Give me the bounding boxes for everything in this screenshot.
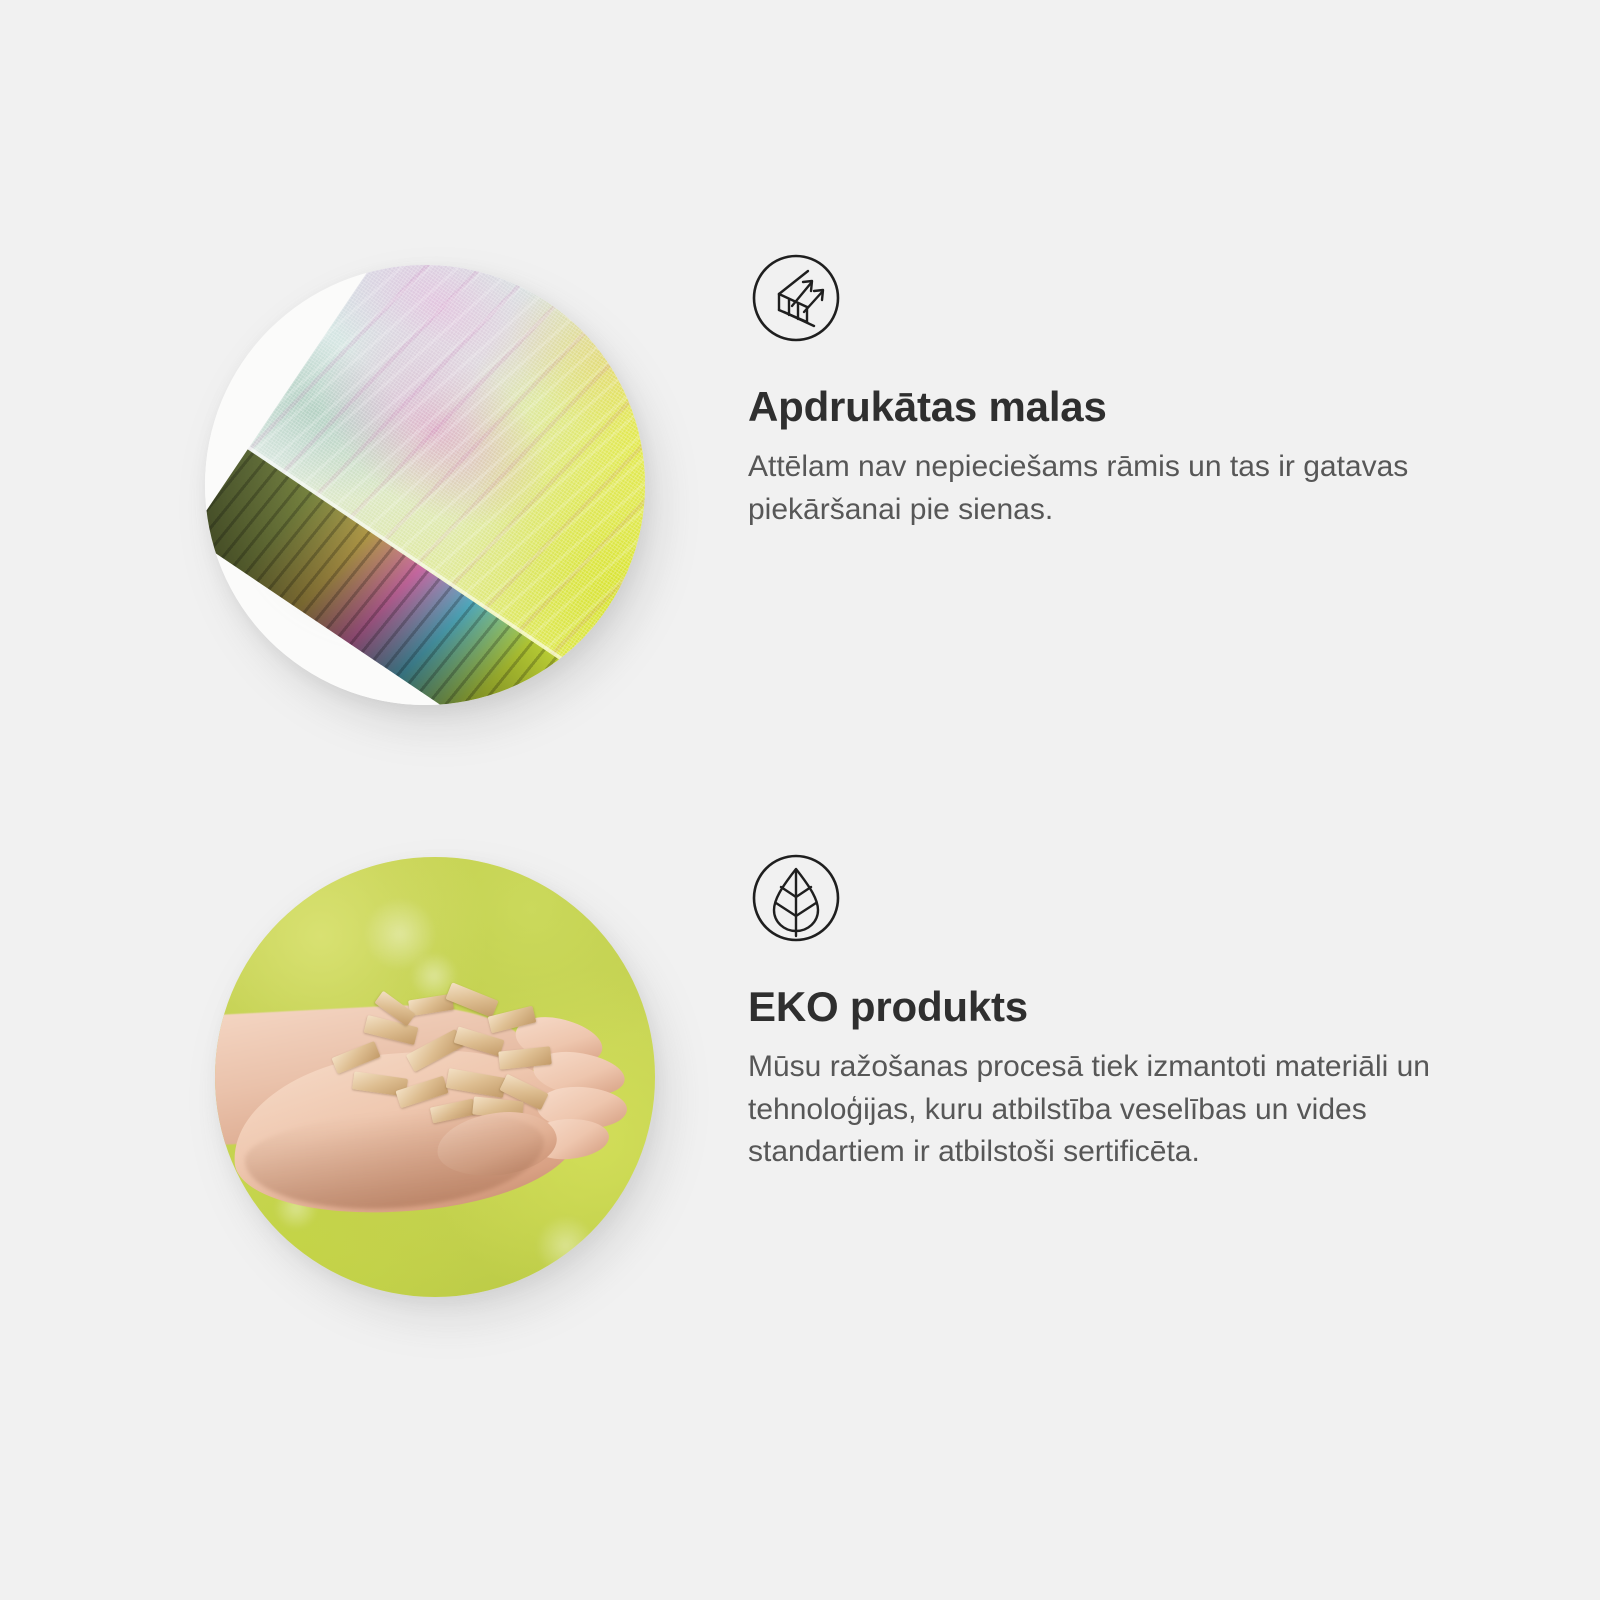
feature-title: Apdrukātas malas [748, 346, 1488, 430]
wood-chip [445, 982, 498, 1017]
feature-description: Attēlam nav nepieciešams rāmis un tas ir… [748, 430, 1448, 531]
feature-block-printed-edges: Apdrukātas malas Attēlam nav nepieciešam… [0, 250, 1600, 750]
wood-chip [331, 1041, 380, 1074]
wood-chips-photo [215, 857, 655, 1297]
leaf-icon [748, 850, 844, 946]
wood-chip-pile [323, 987, 573, 1127]
wood-chip [498, 1046, 552, 1069]
feature-image-eko-product [215, 857, 655, 1297]
feature-title: EKO produkts [748, 946, 1488, 1030]
feature-block-eko-product: EKO produkts Mūsu ražošanas procesā tiek… [0, 845, 1600, 1325]
wood-chip [446, 1068, 507, 1098]
feature-text-eko-product: EKO produkts Mūsu ražošanas procesā tiek… [748, 850, 1488, 1174]
canvas-wrapped-edges-icon [748, 250, 844, 346]
bokeh-highlight [537, 1217, 595, 1275]
canvas-photo [205, 265, 645, 705]
feature-highlights-page: Apdrukātas malas Attēlam nav nepieciešam… [0, 0, 1600, 1600]
feature-description: Mūsu ražošanas procesā tiek izmantoti ma… [748, 1030, 1448, 1174]
feature-text-printed-edges: Apdrukātas malas Attēlam nav nepieciešam… [748, 250, 1488, 531]
feature-image-printed-edges [205, 265, 645, 705]
